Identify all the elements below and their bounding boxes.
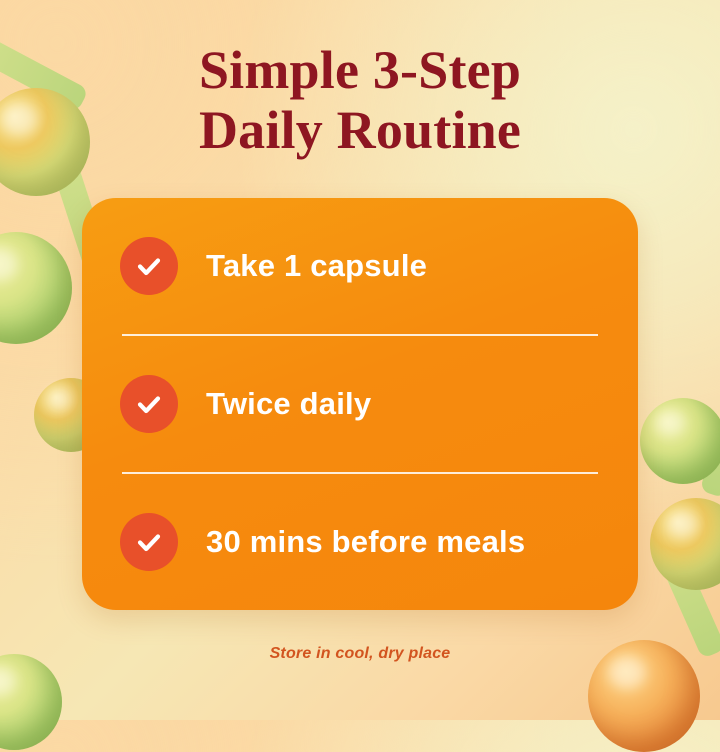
molecule-sphere	[640, 398, 720, 484]
molecule-sphere	[0, 654, 62, 750]
check-icon	[120, 375, 178, 433]
molecule-bond	[699, 348, 720, 499]
routine-step-label: Take 1 capsule	[206, 248, 427, 284]
routine-step-label: Twice daily	[206, 386, 371, 422]
check-icon	[120, 237, 178, 295]
page-title-line-1: Simple 3-Step	[199, 40, 521, 100]
routine-step-label: 30 mins before meals	[206, 524, 525, 560]
routine-step: 30 mins before meals	[120, 474, 600, 610]
routine-step: Take 1 capsule	[120, 198, 600, 334]
storage-note: Store in cool, dry place	[0, 645, 720, 663]
routine-card: Take 1 capsule Twice daily 30 mins befor…	[82, 198, 638, 610]
molecule-sphere	[650, 498, 720, 590]
page-title-line-2: Daily Routine	[199, 100, 521, 160]
molecule-bond	[654, 539, 720, 659]
check-icon	[120, 513, 178, 571]
molecule-sphere	[0, 232, 72, 344]
page-title: Simple 3-Step Daily Routine	[0, 40, 720, 161]
routine-step: Twice daily	[120, 336, 600, 472]
